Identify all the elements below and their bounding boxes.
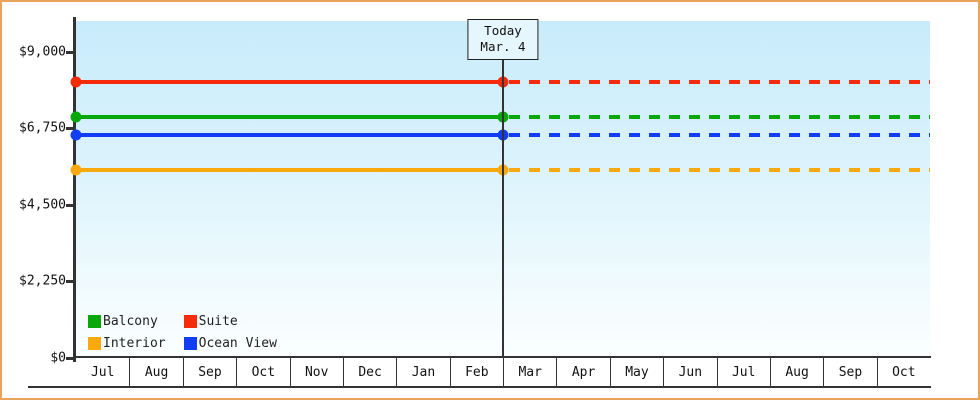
y-axis-tick-mark xyxy=(66,204,74,207)
x-axis-bottom-rule xyxy=(28,386,931,388)
series-start-marker[interactable] xyxy=(71,76,82,87)
legend-label: Ocean View xyxy=(199,336,277,351)
legend-color-swatch xyxy=(184,337,197,350)
series-line-dashed-forecast xyxy=(509,168,930,172)
series-line-solid xyxy=(76,168,503,172)
legend-label: Interior xyxy=(103,336,166,351)
legend-color-swatch xyxy=(88,337,101,350)
x-axis-month-cell[interactable]: Apr xyxy=(556,358,609,386)
chart-legend: BalconySuiteInteriorOcean View xyxy=(88,310,277,354)
legend-entry[interactable]: Suite xyxy=(184,310,277,332)
x-axis-month-cell[interactable]: Feb xyxy=(450,358,503,386)
x-axis-month-cell[interactable]: Aug xyxy=(770,358,823,386)
today-callout-box: Today Mar. 4 xyxy=(467,19,538,60)
legend-label: Suite xyxy=(199,314,238,329)
x-axis-month-cell[interactable]: Oct xyxy=(236,358,289,386)
series-line-dashed-forecast xyxy=(509,115,930,119)
x-axis-month-cell[interactable]: Jan xyxy=(396,358,449,386)
x-axis-month-cell[interactable]: Aug xyxy=(129,358,182,386)
y-axis-tick-mark xyxy=(66,357,74,360)
y-axis-line xyxy=(73,17,76,362)
x-axis-month-cell[interactable]: Jul xyxy=(76,358,129,386)
series-line-dashed-forecast xyxy=(509,80,930,84)
y-axis-tick-labels: $9,000$6,750$4,500$2,250$0 xyxy=(0,0,66,400)
series-line-dashed-forecast xyxy=(509,133,930,137)
legend-entry[interactable]: Balcony xyxy=(88,310,166,332)
y-axis-tick-label: $0 xyxy=(50,351,66,366)
series-line-solid xyxy=(76,80,503,84)
y-axis-tick-label: $2,250 xyxy=(19,274,66,289)
series-start-marker[interactable] xyxy=(71,112,82,123)
series-start-marker[interactable] xyxy=(71,165,82,176)
x-axis-month-cell[interactable]: Jul xyxy=(717,358,770,386)
y-axis-tick-label: $6,750 xyxy=(19,121,66,136)
x-axis-month-cell[interactable]: Mar xyxy=(503,358,556,386)
today-callout-line1: Today xyxy=(480,23,525,39)
x-axis-month-cell[interactable]: Nov xyxy=(290,358,343,386)
legend-entry[interactable]: Ocean View xyxy=(184,332,277,354)
x-axis-month-cell[interactable]: Jun xyxy=(663,358,716,386)
today-callout-line2: Mar. 4 xyxy=(480,39,525,55)
series-line-solid xyxy=(76,115,503,119)
today-vertical-line xyxy=(502,21,504,358)
chart-widget: $9,000$6,750$4,500$2,250$0 Today Mar. 4 … xyxy=(0,0,980,400)
x-axis-month-cell[interactable]: Sep xyxy=(183,358,236,386)
legend-color-swatch xyxy=(88,315,101,328)
x-axis-month-cell[interactable]: Dec xyxy=(343,358,396,386)
x-axis-month-cell[interactable]: May xyxy=(610,358,663,386)
y-axis-tick-label: $9,000 xyxy=(19,44,66,59)
y-axis-tick-mark xyxy=(66,51,74,54)
legend-entry[interactable]: Interior xyxy=(88,332,166,354)
x-axis-month-cell[interactable]: Oct xyxy=(877,358,930,386)
legend-label: Balcony xyxy=(103,314,158,329)
y-axis-tick-label: $4,500 xyxy=(19,197,66,212)
series-line-solid xyxy=(76,133,503,137)
x-axis-month-cell[interactable]: Sep xyxy=(823,358,876,386)
legend-color-swatch xyxy=(184,315,197,328)
y-axis-tick-mark xyxy=(66,280,74,283)
x-axis-month-labels: JulAugSepOctNovDecJanFebMarAprMayJunJulA… xyxy=(76,358,930,386)
series-start-marker[interactable] xyxy=(71,130,82,141)
